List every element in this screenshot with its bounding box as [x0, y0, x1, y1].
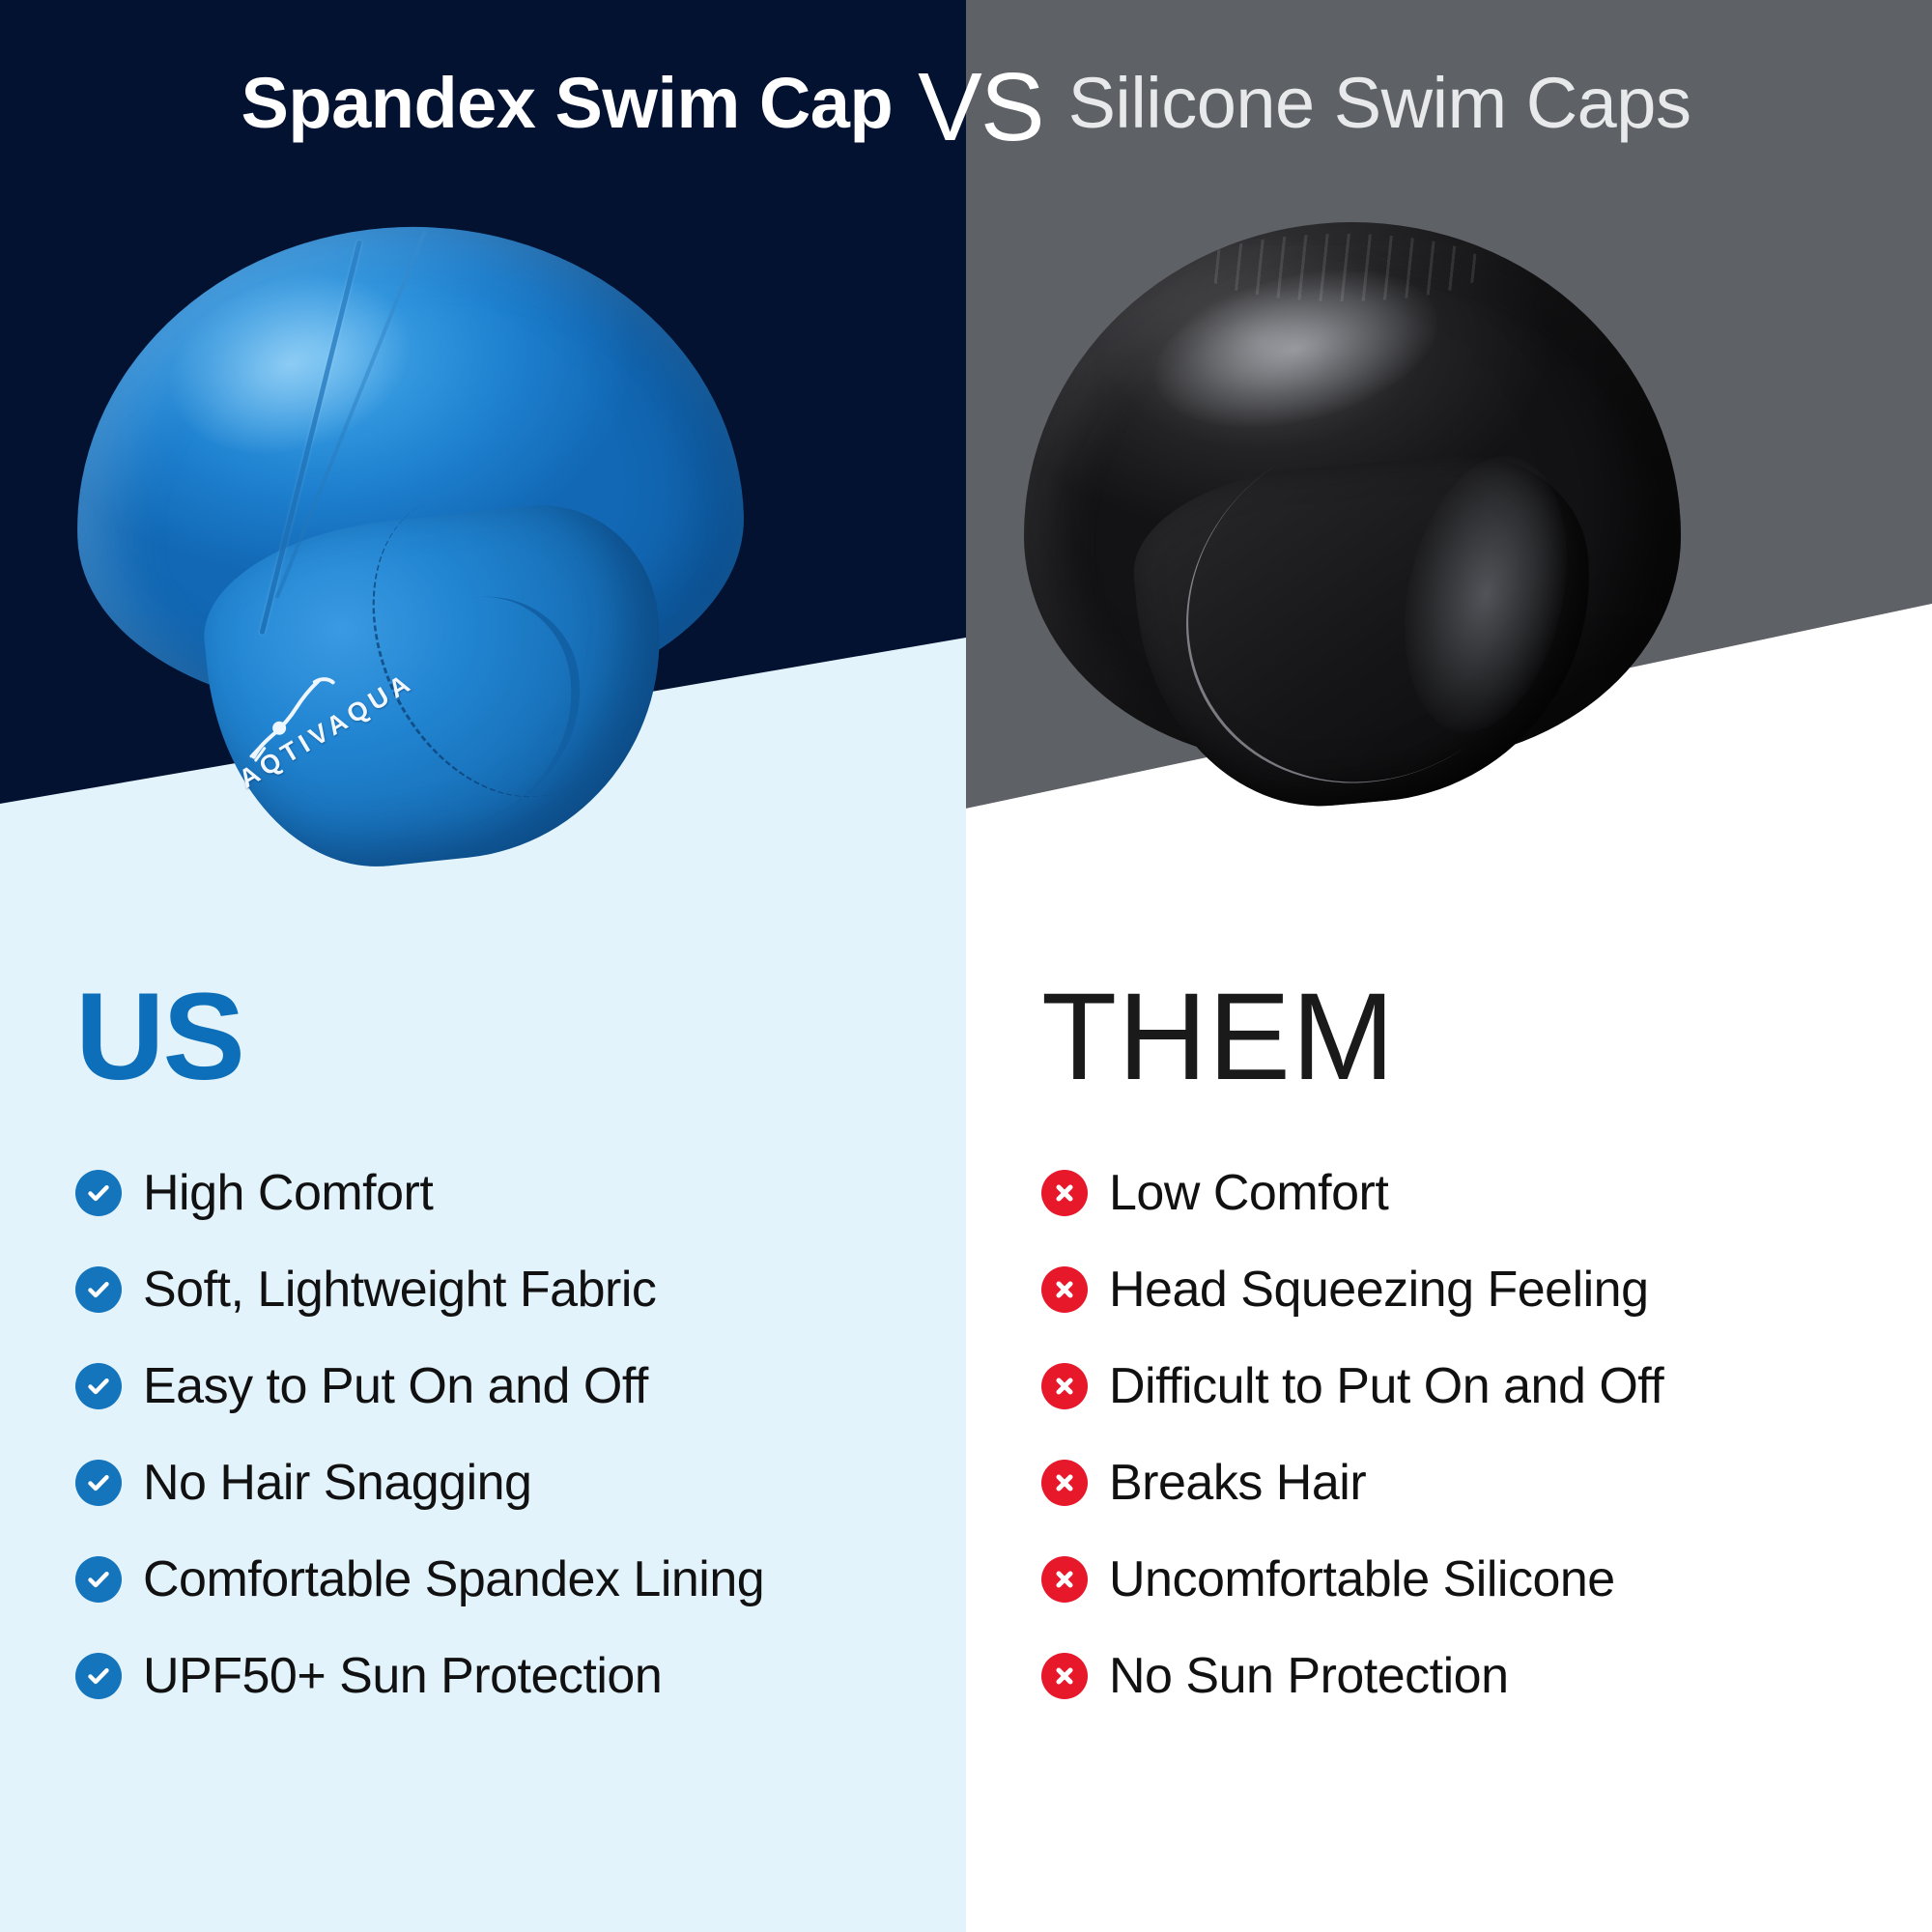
- them-feature-list: Low Comfort Head Squeezing Feeling Diffi…: [1041, 1165, 1932, 1704]
- them-column: THEM Low Comfort Head Squeezing Feeling: [966, 869, 1932, 1932]
- list-item: Breaks Hair: [1041, 1455, 1932, 1511]
- header-left-title: Spandex Swim Cap: [241, 68, 894, 139]
- feature-label: No Hair Snagging: [143, 1458, 531, 1508]
- check-circle-icon: [75, 1363, 122, 1409]
- list-item: Difficult to Put On and Off: [1041, 1358, 1932, 1414]
- them-heading: THEM: [1041, 976, 1932, 1099]
- us-heading: US: [75, 976, 966, 1099]
- x-circle-icon: [1041, 1653, 1088, 1699]
- feature-label: Easy to Put On and Off: [143, 1361, 648, 1411]
- list-item: Uncomfortable Silicone: [1041, 1551, 1932, 1607]
- x-circle-icon: [1041, 1363, 1088, 1409]
- blue-spandex-cap-image: AQTIVAQUA: [75, 227, 742, 773]
- us-column: US High Comfort Soft, Lightweight Fabric: [0, 869, 966, 1932]
- check-circle-icon: [75, 1653, 122, 1699]
- list-item: High Comfort: [75, 1165, 966, 1221]
- feature-label: Breaks Hair: [1109, 1458, 1366, 1508]
- comparison-infographic: Spandex Swim Cap VS Silicone Swim Caps A…: [0, 0, 1932, 1932]
- feature-label: Comfortable Spandex Lining: [143, 1554, 764, 1605]
- header-right-title: Silicone Swim Caps: [1068, 68, 1691, 139]
- list-item: No Hair Snagging: [75, 1455, 966, 1511]
- x-circle-icon: [1041, 1556, 1088, 1603]
- list-item: Comfortable Spandex Lining: [75, 1551, 966, 1607]
- feature-label: UPF50+ Sun Protection: [143, 1651, 662, 1701]
- header-vs-label: VS: [918, 59, 1042, 156]
- list-item: UPF50+ Sun Protection: [75, 1648, 966, 1704]
- feature-label: No Sun Protection: [1109, 1651, 1509, 1701]
- feature-label: Difficult to Put On and Off: [1109, 1361, 1663, 1411]
- check-circle-icon: [75, 1556, 122, 1603]
- check-circle-icon: [75, 1460, 122, 1506]
- header-title-row: Spandex Swim Cap VS Silicone Swim Caps: [0, 50, 1932, 156]
- us-feature-list: High Comfort Soft, Lightweight Fabric Ea…: [75, 1165, 966, 1704]
- list-item: Soft, Lightweight Fabric: [75, 1262, 966, 1318]
- list-item: Easy to Put On and Off: [75, 1358, 966, 1414]
- black-silicone-cap-image: [1024, 222, 1681, 802]
- check-circle-icon: [75, 1266, 122, 1313]
- feature-label: Soft, Lightweight Fabric: [143, 1264, 656, 1315]
- x-circle-icon: [1041, 1266, 1088, 1313]
- x-circle-icon: [1041, 1460, 1088, 1506]
- feature-label: Head Squeezing Feeling: [1109, 1264, 1649, 1315]
- feature-label: Low Comfort: [1109, 1168, 1388, 1218]
- list-item: Low Comfort: [1041, 1165, 1932, 1221]
- list-item: No Sun Protection: [1041, 1648, 1932, 1704]
- x-circle-icon: [1041, 1170, 1088, 1216]
- comparison-columns: US High Comfort Soft, Lightweight Fabric: [0, 869, 1932, 1932]
- list-item: Head Squeezing Feeling: [1041, 1262, 1932, 1318]
- feature-label: High Comfort: [143, 1168, 433, 1218]
- check-circle-icon: [75, 1170, 122, 1216]
- feature-label: Uncomfortable Silicone: [1109, 1554, 1615, 1605]
